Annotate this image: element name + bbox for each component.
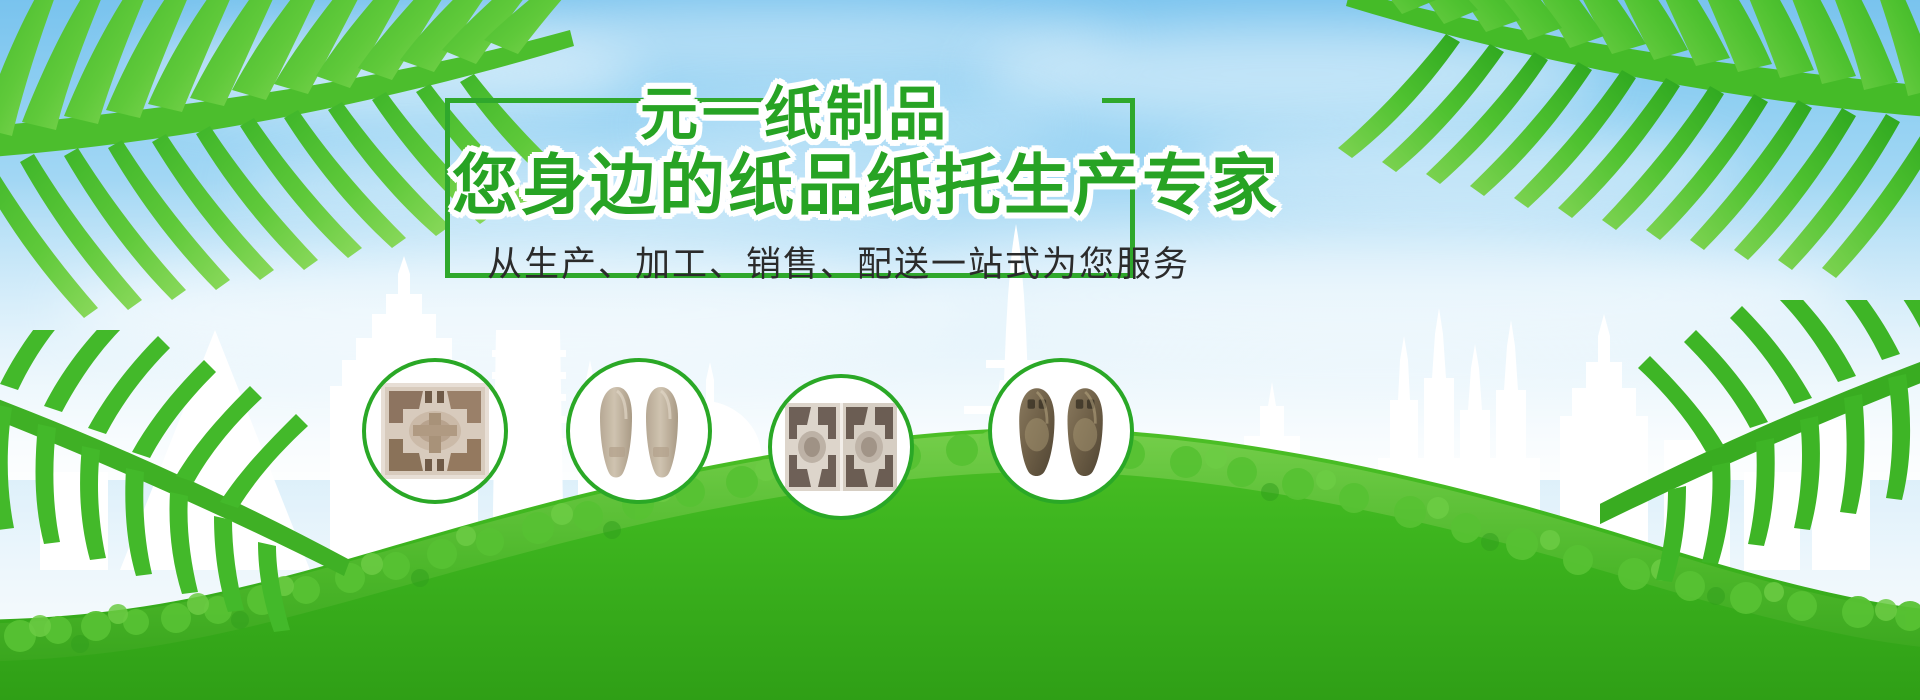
dark-pulp-shoe-trees-icon [1009, 379, 1113, 483]
product-circle-dark-pulp-shoe-trees[interactable] [988, 358, 1134, 504]
cloud-wisp [420, 6, 1120, 76]
cloud-wisp [120, 30, 640, 120]
brand-title: 元一纸制品 [640, 86, 950, 144]
pulp-shoe-insole-pair-icon [587, 379, 691, 483]
sky-haze [0, 180, 1920, 480]
tagline: 从生产、加工、销售、配送一站式为您服务 [487, 236, 1187, 287]
palm-frond-icon [0, 330, 360, 660]
page-headline: 您身边的纸品纸托生产专家 [452, 152, 1280, 218]
square-pulp-tray-icon [379, 379, 491, 483]
palm-frond-icon [1600, 300, 1920, 600]
promo-banner: 元一纸制品 您身边的纸品纸托生产专家 从生产、加工、销售、配送一站式为您服务 [0, 0, 1920, 700]
product-circle-pulp-shoe-insole-pair[interactable] [566, 358, 712, 504]
product-circle-square-pulp-tray[interactable] [362, 358, 508, 504]
product-circle-paired-pulp-corner-trays[interactable] [768, 374, 914, 520]
palm-frond-icon [1310, 0, 1920, 360]
green-hill-shape [0, 320, 1920, 700]
headline-frame-left [445, 98, 450, 278]
paired-pulp-corner-trays-icon [785, 395, 897, 499]
cloud-wisp [980, 24, 1600, 124]
